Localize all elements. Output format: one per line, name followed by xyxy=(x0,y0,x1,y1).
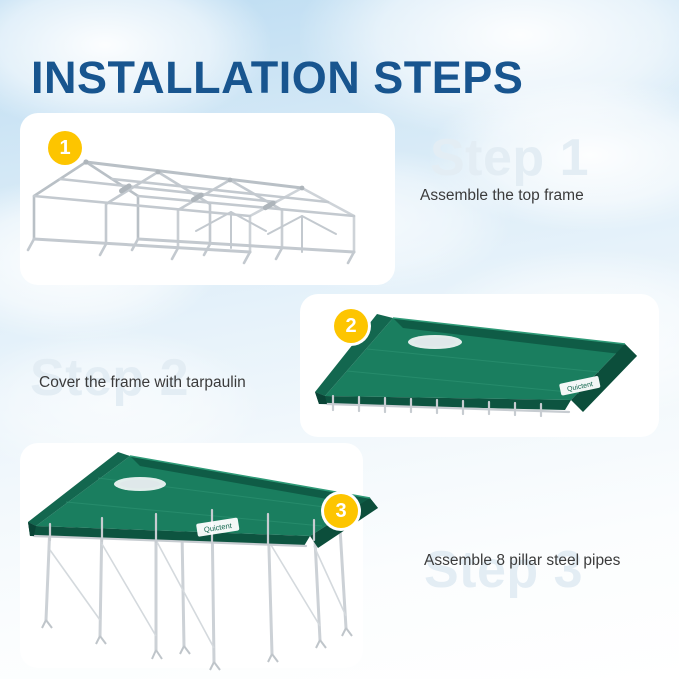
step-3-illustration: Quictent xyxy=(22,440,382,677)
page-title: INSTALLATION STEPS xyxy=(31,52,523,104)
step-2-number-badge: 2 xyxy=(334,309,368,343)
installation-steps-poster: INSTALLATION STEPS Step 1 Step 2 Step 3 xyxy=(0,0,679,679)
step-3-caption: Assemble 8 pillar steel pipes xyxy=(424,550,654,571)
step-2-caption: Cover the frame with tarpaulin xyxy=(39,372,249,393)
step-1-number-badge: 1 xyxy=(48,131,82,165)
step-3-number-badge: 3 xyxy=(324,494,358,528)
watermark-step-1: Step 1 xyxy=(430,128,589,188)
step-1-caption: Assemble the top frame xyxy=(420,185,660,206)
